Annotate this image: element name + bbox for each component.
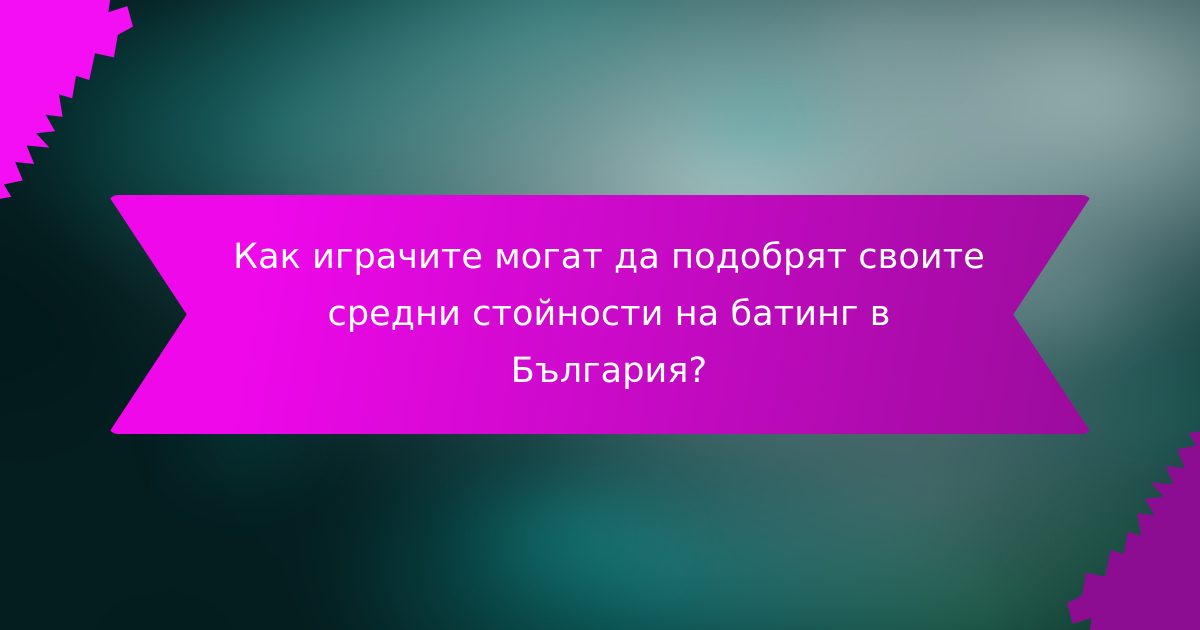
- headline-ribbon: Как играчите могат да подобрят своите ср…: [108, 195, 1092, 434]
- jagged-corner-top-left-icon: [0, 0, 190, 205]
- poster-canvas: Как играчите могат да подобрят своите ср…: [0, 0, 1200, 630]
- headline-text: Как играчите могат да подобрят своите ср…: [211, 229, 989, 400]
- jagged-corner-bottom-right-icon: [1010, 425, 1200, 630]
